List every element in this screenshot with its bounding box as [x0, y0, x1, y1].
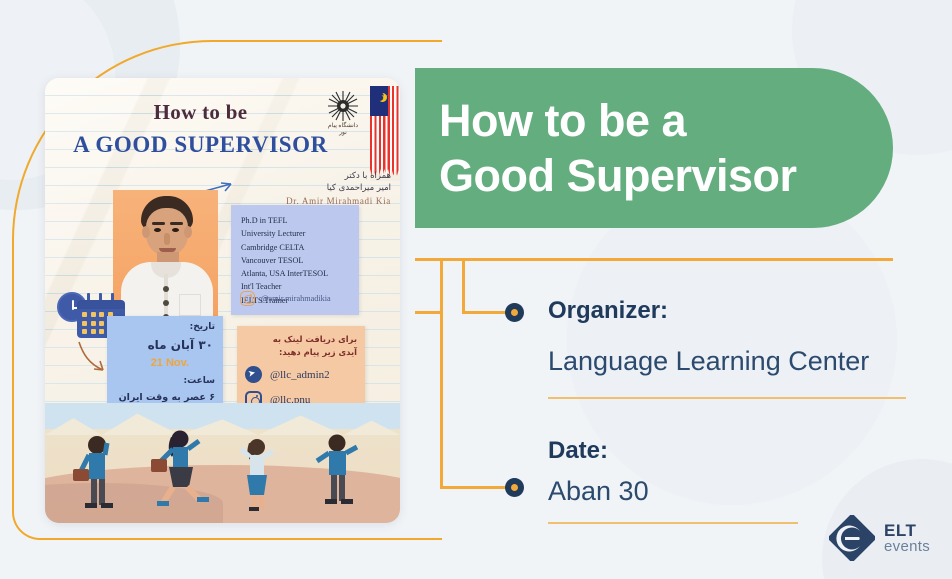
event-title-line-1: How to be a — [439, 94, 893, 147]
elt-events-logo: ELT events — [829, 515, 930, 561]
organizer-underline — [548, 397, 906, 399]
logo-secondary-text: events — [884, 539, 930, 554]
flag-canton — [370, 86, 388, 116]
contact-heading: برای دریافت لینک به آیدی زیر پیام دهید: — [245, 333, 357, 358]
flag-star-icon: ★ — [381, 93, 388, 101]
logo-primary-text: ELT — [884, 522, 930, 539]
photo-ear-left — [142, 226, 150, 238]
connector-stub-left — [415, 311, 441, 314]
illustration-person-3 — [241, 439, 273, 511]
poster-title-main: A GOOD SUPERVISOR — [63, 132, 338, 158]
telegram-handle: @llc_admin2 — [270, 369, 330, 381]
speaker-instagram-handle: @amir.mirahmadikia — [261, 294, 331, 303]
time-label: ساعت: — [183, 376, 215, 386]
photo-brow-left — [152, 222, 165, 225]
date-time-note: تاریخ: ۳۰ آبان ماه 21 Nov. ساعت: ۶ عصر ب… — [107, 316, 223, 414]
speaker-name-block: همراه با دکتر امیر میراحمدی کیا Dr. Amir… — [241, 170, 391, 208]
speaker-fa-line1: همراه با دکتر — [241, 170, 391, 182]
photo-button-2 — [163, 300, 169, 306]
illustration-people — [45, 403, 400, 523]
instagram-icon — [240, 291, 255, 306]
illustration-person-1 — [73, 436, 113, 508]
speaker-fa-line2: امیر میراحمدی کیا — [241, 182, 391, 194]
speaker-instagram-row: @amir.mirahmadikia — [240, 291, 331, 306]
date-label: تاریخ: — [190, 322, 215, 332]
photo-pocket — [179, 294, 201, 316]
emblem-sunburst-icon — [327, 90, 359, 122]
contact-heading-line1: برای دریافت لینک به — [245, 333, 357, 346]
credential-item: Ph.D in TEFL — [241, 214, 328, 227]
organizer-value: Language Learning Center — [548, 346, 869, 377]
bullet-marker-date — [505, 478, 524, 497]
credential-item: University Lecturer — [241, 227, 328, 240]
date-value-en: 21 Nov. — [151, 357, 189, 369]
date-value: Aban 30 — [548, 476, 649, 507]
bullet-marker-organizer — [505, 303, 524, 322]
contact-heading-line2: آیدی زیر پیام دهید: — [245, 346, 357, 359]
poster-illustration — [45, 403, 400, 523]
credentials-note: Ph.D in TEFL University Lecturer Cambrid… — [231, 205, 359, 315]
connector-vertical-branch — [462, 258, 465, 313]
poster-graphic-canvas: How to be A GOOD SUPERVISOR دانشگاه پیام… — [0, 0, 952, 579]
university-emblem-icon: دانشگاه پیام نور — [323, 90, 363, 138]
date-value-fa: ۳۰ آبان ماه — [148, 338, 213, 352]
photo-button-1 — [163, 286, 169, 292]
illustration-person-4 — [317, 435, 357, 505]
poster-title-top: How to be — [93, 100, 308, 125]
emblem-caption: دانشگاه پیام نور — [325, 122, 361, 136]
event-poster-image: How to be A GOOD SUPERVISOR دانشگاه پیام… — [45, 78, 400, 523]
photo-eye-right — [172, 228, 179, 232]
telegram-row: @llc_admin2 — [245, 366, 330, 383]
organizer-label: Organizer: — [548, 297, 668, 325]
photo-ear-right — [184, 226, 192, 238]
credential-item: Vancouver TESOL — [241, 254, 328, 267]
illustration-person-2 — [151, 431, 209, 507]
elt-logo-text: ELT events — [884, 522, 930, 555]
event-title-line-2: Good Supervisor — [439, 149, 893, 202]
elt-logo-mark-icon — [829, 515, 875, 561]
date-underline — [548, 522, 798, 524]
credential-item: Atlanta, USA InterTESOL — [241, 267, 328, 280]
date-label: Date: — [548, 437, 608, 465]
event-title-banner: How to be a Good Supervisor — [415, 68, 893, 228]
photo-nose — [164, 233, 170, 245]
calendar-header — [77, 300, 125, 309]
photo-eye-left — [154, 228, 161, 232]
malaysia-flag-icon: ★ — [370, 86, 400, 181]
connector-vertical-main — [440, 258, 443, 488]
connector-top-line — [415, 258, 893, 261]
photo-brow-right — [170, 222, 183, 225]
credential-item: Cambridge CELTA — [241, 241, 328, 254]
time-value: ۶ عصر به وقت ایران — [119, 392, 215, 403]
telegram-icon — [245, 366, 262, 383]
